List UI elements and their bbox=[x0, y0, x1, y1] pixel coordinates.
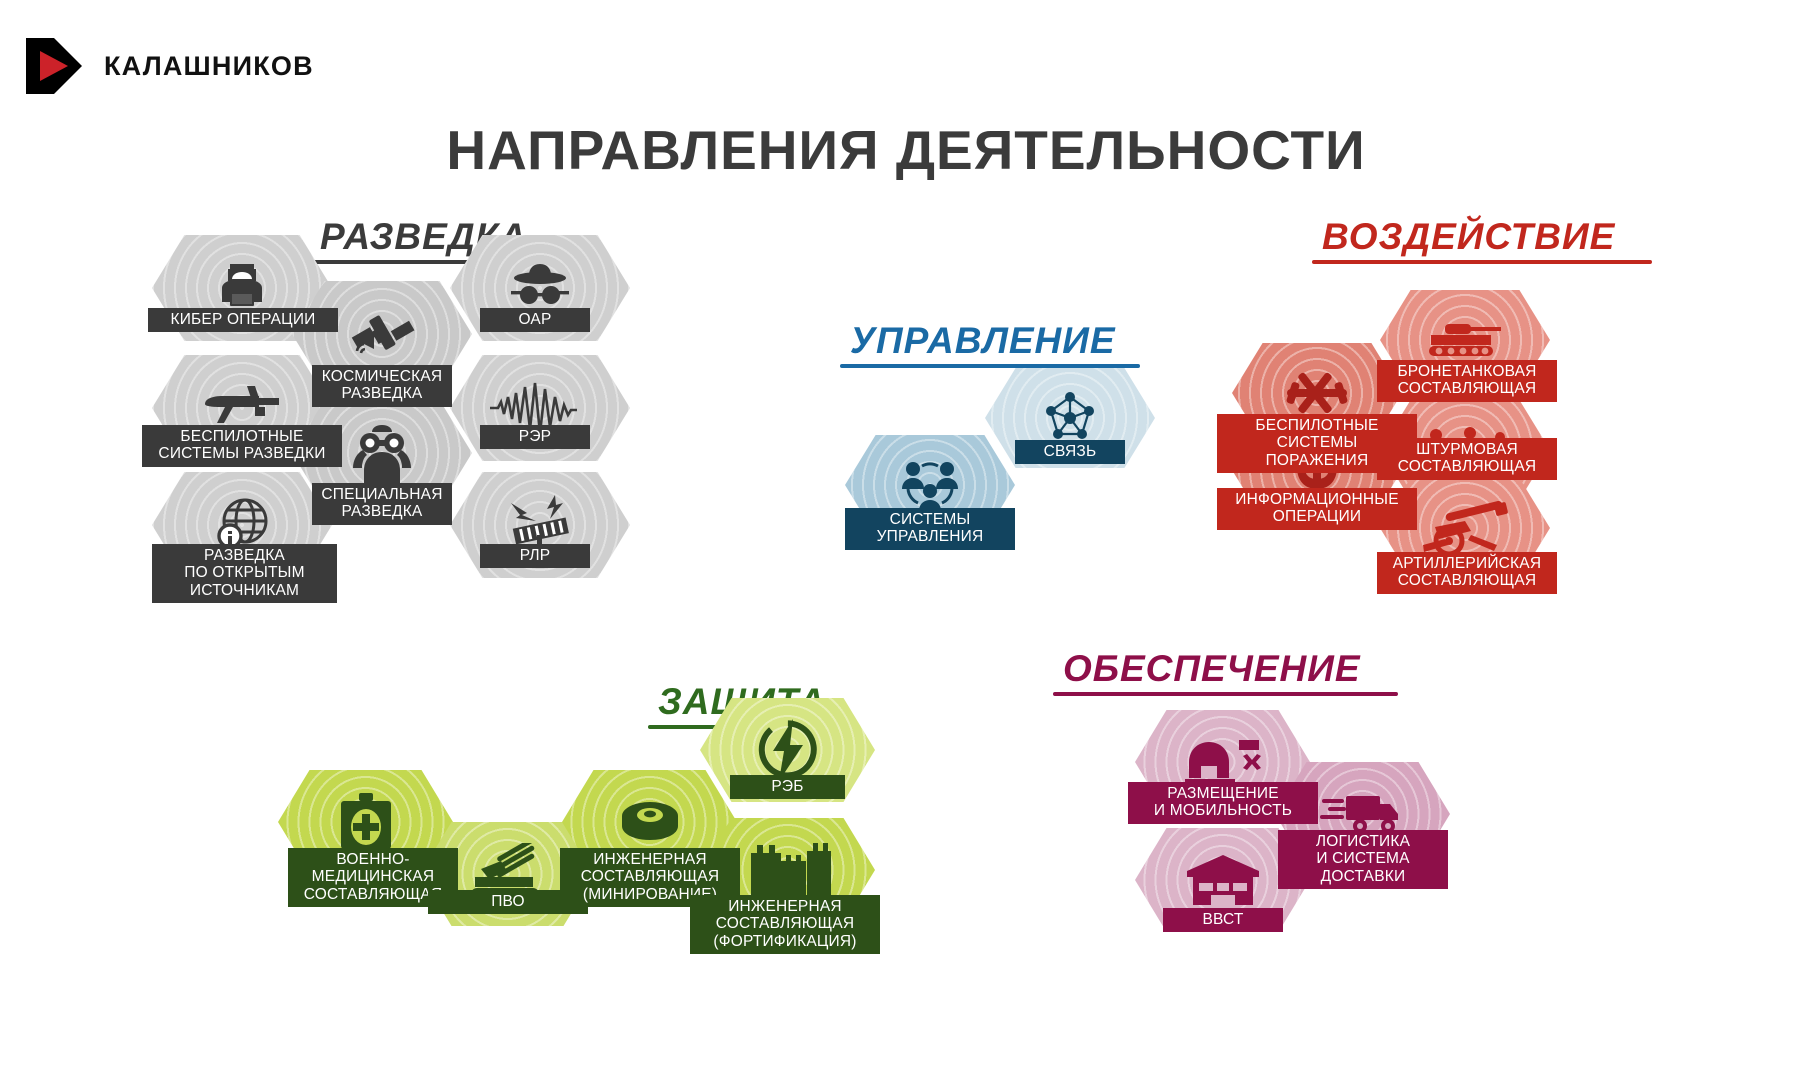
tile-label-assault: ШТУРМОВАЯ СОСТАВЛЯЮЩАЯ bbox=[1377, 438, 1557, 480]
tile-label-logistics: ЛОГИСТИКА И СИСТЕМА ДОСТАВКИ bbox=[1278, 830, 1448, 889]
section-title-upravlenie: УПРАВЛЕНИЕ bbox=[850, 322, 1150, 368]
section-title-vozdeystvie: ВОЗДЕЙСТВИЕ bbox=[1322, 218, 1662, 264]
warehouse-icon bbox=[1185, 853, 1261, 907]
tile-label-rlr: РЛР bbox=[480, 544, 590, 568]
tile-label-recon-uav: БЕСПИЛОТНЫЕ СИСТЕМЫ РАЗВЕДКИ bbox=[142, 425, 342, 467]
slide-canvas: КАЛАШНИКОВ НАПРАВЛЕНИЯ ДЕЯТЕЛЬНОСТИ РАЗВ… bbox=[0, 0, 1812, 1068]
brand-name: КАЛАШНИКОВ bbox=[104, 51, 314, 82]
tile-label-vvst: ВВСТ bbox=[1163, 908, 1283, 932]
land-mine-icon bbox=[611, 794, 689, 850]
tile-label-rer: РЭР bbox=[480, 425, 590, 449]
tile-label-special-recon: СПЕЦИАЛЬНАЯ РАЗВЕДКА bbox=[312, 483, 452, 525]
section-title-obespechenie: ОБЕСПЕЧЕНИЕ bbox=[1063, 650, 1408, 696]
fortification-wall-icon bbox=[745, 843, 831, 897]
tile-label-reb: РЭБ bbox=[730, 775, 845, 799]
strike-drone-icon bbox=[1275, 365, 1359, 421]
spy-hat-glasses-icon bbox=[507, 262, 573, 314]
people-network-icon bbox=[898, 457, 962, 513]
tile-label-armor: БРОНЕТАНКОВАЯ СОСТАВЛЯЮЩАЯ bbox=[1377, 360, 1557, 402]
tile-label-svyaz: СВЯЗЬ bbox=[1015, 440, 1125, 464]
kalashnikov-logo-icon bbox=[26, 38, 82, 94]
binoculars-scout-icon bbox=[347, 422, 417, 484]
tile-label-cyber-operations: КИБЕР ОПЕРАЦИИ bbox=[148, 308, 338, 332]
brand-lockup: КАЛАШНИКОВ bbox=[26, 38, 314, 94]
tile-label-fortification: ИНЖЕНЕРНАЯ СОСТАВЛЯЮЩАЯ (ФОРТИФИКАЦИЯ) bbox=[690, 895, 880, 954]
tile-label-oar: ОАР bbox=[480, 308, 590, 332]
tile-label-info-ops: ИНФОРМАЦИОННЫЕ ОПЕРАЦИИ bbox=[1217, 488, 1417, 530]
page-title: НАПРАВЛЕНИЯ ДЕЯТЕЛЬНОСТИ bbox=[0, 118, 1812, 182]
node-graph-icon bbox=[1039, 389, 1101, 447]
medical-kit-icon bbox=[335, 791, 397, 853]
satellite-icon bbox=[344, 296, 420, 372]
tile-label-control-systems: СИСТЕМЫ УПРАВЛЕНИЯ bbox=[845, 508, 1015, 550]
tile-label-basing: РАЗМЕЩЕНИЕ И МОБИЛЬНОСТЬ bbox=[1128, 782, 1318, 824]
lightning-jam-icon bbox=[757, 719, 819, 781]
artillery-cannon-icon bbox=[1419, 501, 1511, 555]
tank-icon bbox=[1423, 318, 1507, 362]
tile-label-artillery: АРТИЛЛЕРИЙСКАЯ СОСТАВЛЯЮЩАЯ bbox=[1377, 552, 1557, 594]
tile-label-osint: РАЗВЕДКА ПО ОТКРЫТЫМ ИСТОЧНИКАМ bbox=[152, 544, 337, 603]
tile-label-space-recon: КОСМИЧЕСКАЯ РАЗВЕДКА bbox=[312, 365, 452, 407]
